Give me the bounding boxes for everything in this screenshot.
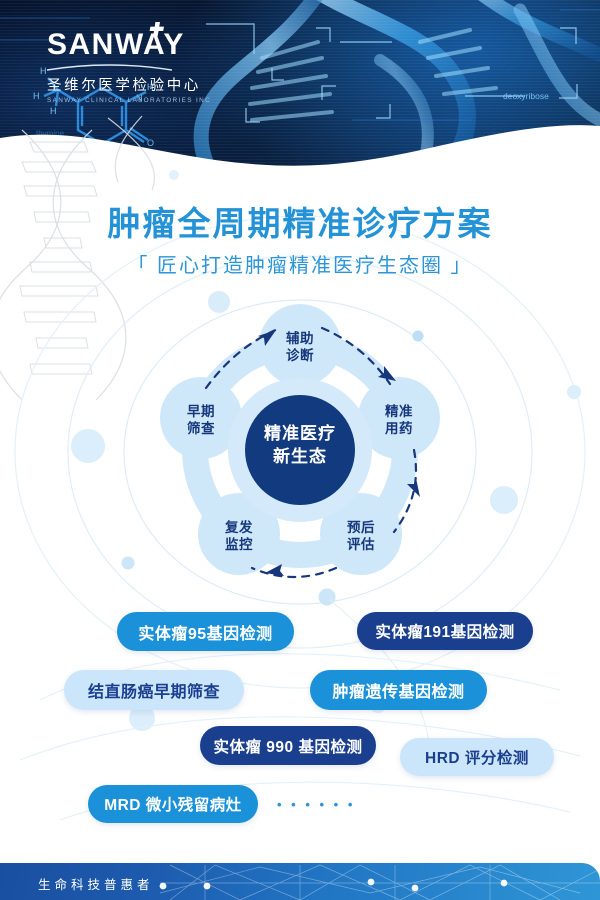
node-label-line1: 预后	[320, 519, 402, 536]
header-banner: deoxyribose guanine	[0, 0, 600, 175]
page-subtitle: 「 匠心打造肿瘤精准医疗生态圈 」	[0, 254, 600, 278]
node-label-line1: 精准	[358, 403, 440, 420]
poster-root: deoxyribose guanine	[0, 0, 600, 900]
center-label-line1: 精准医疗	[140, 422, 460, 445]
footer-bar: 生命科技普惠者	[0, 863, 600, 900]
center-label-line2: 新生态	[140, 445, 460, 468]
node-label-line2: 评估	[320, 536, 402, 553]
tag-solid-tumor-95[interactable]: 实体瘤95基因检测	[117, 612, 294, 651]
node-label-line1: 复发	[198, 519, 280, 536]
tag-hrd-score[interactable]: HRD 评分检测	[400, 738, 554, 776]
node-label-line1: 辅助	[259, 330, 341, 347]
page-title: 肿瘤全周期精准诊疗方案	[0, 204, 600, 244]
header-wave-divider	[0, 105, 600, 175]
tag-solid-tumor-990[interactable]: 实体瘤 990 基因检测	[200, 726, 376, 765]
node-label-line1: 早期	[160, 403, 242, 420]
tag-colorectal-early-screening[interactable]: 结直肠癌早期筛查	[64, 670, 244, 710]
tags-ellipsis: • • • • • •	[277, 797, 355, 812]
node-label-line2: 监控	[198, 536, 280, 553]
cycle-node-recurrence-monitoring[interactable]: 复发 监控	[198, 519, 280, 554]
title-block: 肿瘤全周期精准诊疗方案 「 匠心打造肿瘤精准医疗生态圈 」	[0, 204, 600, 278]
node-label-line2: 诊断	[259, 347, 341, 364]
precision-medicine-cycle-diagram: 辅助 诊断 精准 用药 预后 评估 复发 监控 早期 筛查 精准医疗 新生态	[140, 300, 460, 600]
cycle-center-label: 精准医疗 新生态	[140, 422, 460, 469]
cycle-node-assisted-diagnosis[interactable]: 辅助 诊断	[259, 330, 341, 365]
tag-solid-tumor-191[interactable]: 实体瘤191基因检测	[357, 612, 533, 650]
tag-tumor-hereditary-gene[interactable]: 肿瘤遗传基因检测	[310, 670, 487, 710]
tag-mrd-residual[interactable]: MRD 微小残留病灶	[88, 785, 258, 823]
footer-slogan: 生命科技普惠者	[38, 874, 154, 893]
cycle-node-prognosis-evaluation[interactable]: 预后 评估	[320, 519, 402, 554]
